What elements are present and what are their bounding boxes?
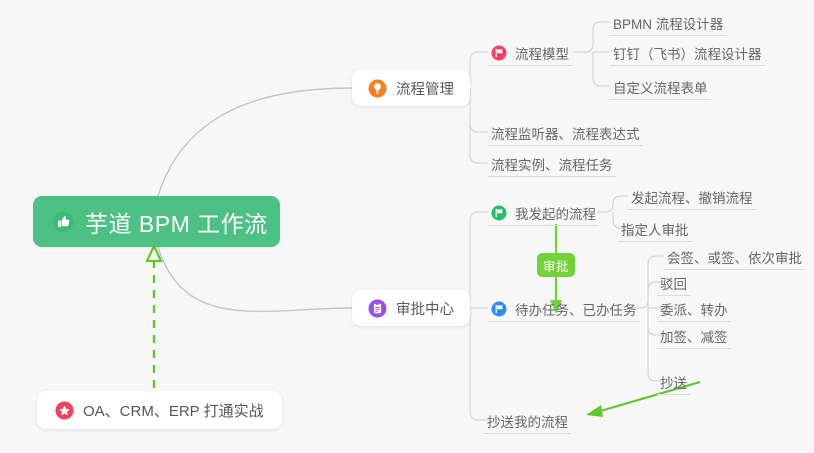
label-cc: 抄送 xyxy=(660,372,687,392)
root-to-process-management-curve xyxy=(158,88,352,196)
label-process-model: 流程模型 xyxy=(515,43,569,63)
node-process-instance-task[interactable]: 流程实例、流程任务 xyxy=(488,151,616,177)
approval-flow-chip: 审批 xyxy=(537,253,575,277)
flag-red-icon xyxy=(491,45,507,61)
node-bpmn-designer[interactable]: BPMN 流程设计器 xyxy=(610,10,726,36)
node-custom-process-form[interactable]: 自定义流程表单 xyxy=(610,74,711,100)
label-todo-done-tasks: 待办任务、已办任务 xyxy=(515,299,637,319)
label-start-cancel-process: 发起流程、撤销流程 xyxy=(631,187,753,207)
node-reject[interactable]: 驳回 xyxy=(657,270,690,296)
label-dingtalk-feishu-designer: 钉钉（飞书）流程设计器 xyxy=(613,43,762,63)
branch-node-process-management[interactable]: 流程管理 xyxy=(352,70,470,106)
my-initiated-spine-up xyxy=(597,196,628,212)
node-dingtalk-feishu-designer[interactable]: 钉钉（飞书）流程设计器 xyxy=(610,40,765,66)
label-process-listener-expression: 流程监听器、流程表达式 xyxy=(491,123,640,143)
node-delegate-transfer[interactable]: 委派、转办 xyxy=(657,296,731,322)
label-assignee-approval: 指定人审批 xyxy=(621,219,689,239)
node-my-initiated-process[interactable]: 我发起的流程 xyxy=(488,200,599,226)
approval-flow-chip-label: 审批 xyxy=(543,256,569,275)
approval-center-to-ccme xyxy=(470,308,488,420)
clipboard-icon xyxy=(368,299,387,318)
node-todo-done-tasks[interactable]: 待办任务、已办任务 xyxy=(488,296,640,322)
node-assignee-approval[interactable]: 指定人审批 xyxy=(618,216,692,242)
root-node[interactable]: 芋道 BPM 工作流 xyxy=(33,196,280,247)
process-management-to-listener xyxy=(470,88,488,132)
star-icon xyxy=(55,401,74,420)
cc-flow-arrow-head xyxy=(586,405,603,417)
label-delegate-transfer: 委派、转办 xyxy=(660,299,728,319)
thumbs-up-icon xyxy=(52,211,74,233)
node-process-model[interactable]: 流程模型 xyxy=(488,40,572,66)
label-process-instance-task: 流程实例、流程任务 xyxy=(491,154,613,174)
label-add-remove-sign: 加签、减签 xyxy=(660,326,728,346)
flag-green-icon xyxy=(491,205,507,221)
process-model-spine-up xyxy=(573,22,610,52)
node-start-cancel-process[interactable]: 发起流程、撤销流程 xyxy=(628,184,756,210)
process-management-to-instance xyxy=(470,88,488,163)
branch-node-approval-center[interactable]: 审批中心 xyxy=(352,290,470,326)
branch-label-approval-center: 审批中心 xyxy=(396,298,454,319)
node-add-remove-sign[interactable]: 加签、减签 xyxy=(657,323,731,349)
label-integration-practice: OA、CRM、ERP 打通实战 xyxy=(83,400,264,421)
process-model-to-customform xyxy=(593,52,610,86)
label-countersign-orsign-sequential: 会签、或签、依次审批 xyxy=(667,247,802,267)
lightbulb-icon xyxy=(368,79,387,98)
flag-blue-icon xyxy=(491,301,507,317)
integration-arrow-head xyxy=(147,246,161,261)
label-custom-process-form: 自定义流程表单 xyxy=(613,77,708,97)
label-my-initiated-process: 我发起的流程 xyxy=(515,203,596,223)
label-reject: 驳回 xyxy=(660,273,687,293)
node-process-listener-expression[interactable]: 流程监听器、流程表达式 xyxy=(488,120,643,146)
label-cc-to-me-process: 抄送我的流程 xyxy=(487,411,568,431)
branch-label-process-management: 流程管理 xyxy=(396,78,454,99)
node-countersign-orsign-sequential[interactable]: 会签、或签、依次审批 xyxy=(664,244,805,270)
root-node-label: 芋道 BPM 工作流 xyxy=(85,205,268,239)
node-cc-to-me-process[interactable]: 抄送我的流程 xyxy=(484,408,571,434)
label-bpmn-designer: BPMN 流程设计器 xyxy=(613,13,723,33)
mindmap-canvas: 芋道 BPM 工作流 流程管理 流程模型 BPMN 流程设计器 钉钉（飞书）流程 xyxy=(0,0,814,453)
root-to-approval-center-curve xyxy=(158,247,352,311)
node-integration-practice[interactable]: OA、CRM、ERP 打通实战 xyxy=(37,391,282,429)
node-cc[interactable]: 抄送 xyxy=(657,369,690,395)
